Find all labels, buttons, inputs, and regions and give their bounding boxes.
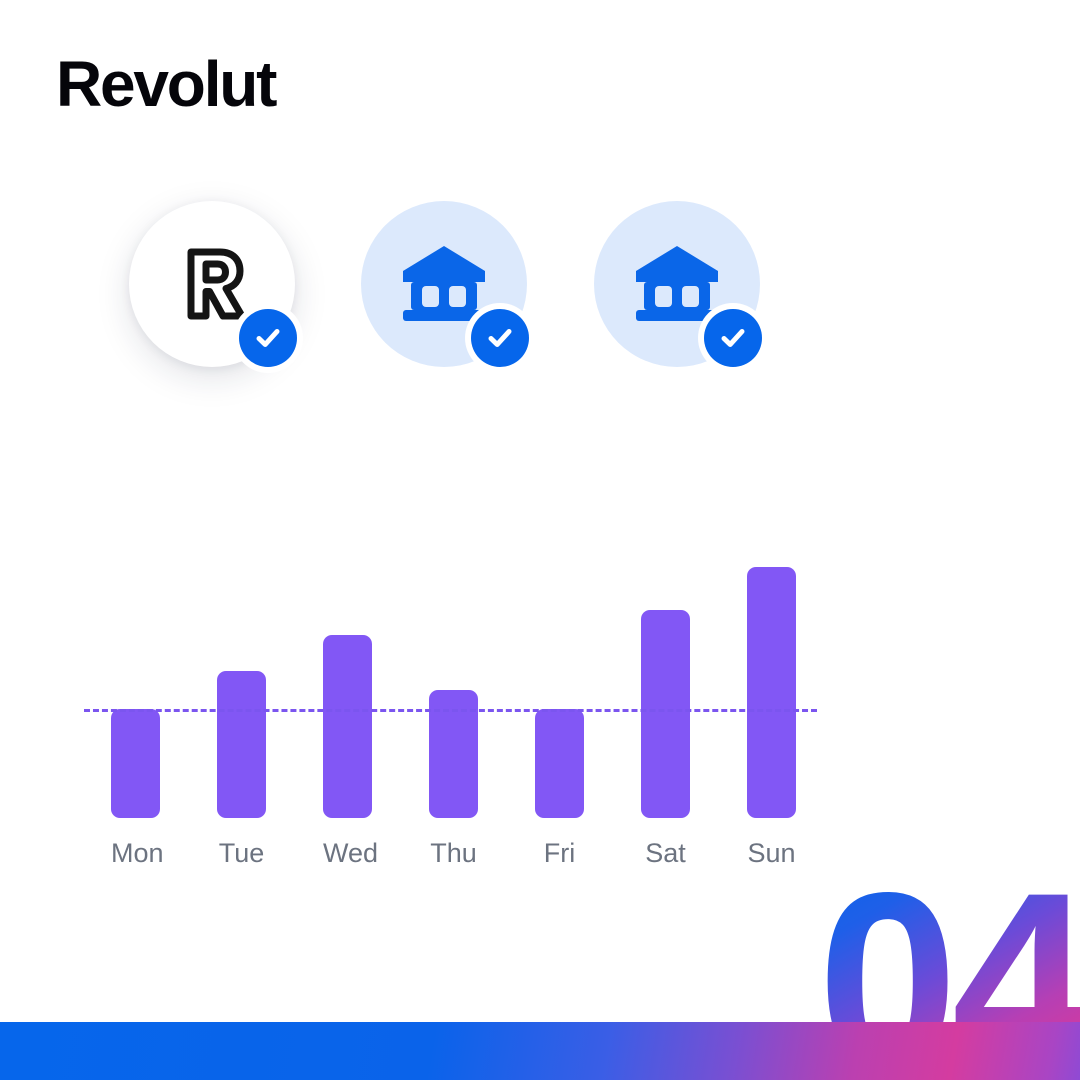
revolut-wordmark: Revolut	[56, 52, 275, 116]
chart-bar[interactable]	[535, 709, 584, 818]
chart-x-axis-labels: MonTueWedThuFriSatSun	[111, 838, 791, 872]
chart-x-label: Wed	[323, 838, 372, 869]
chart-x-label: Sun	[747, 838, 796, 869]
chart-reference-line	[84, 709, 817, 712]
chart-x-label: Fri	[535, 838, 584, 869]
verified-check-badge	[698, 303, 768, 373]
bottom-gradient-bar	[0, 1022, 1080, 1080]
account-badge-bank-2[interactable]	[594, 201, 760, 367]
check-icon	[484, 322, 516, 354]
chart-bar[interactable]	[323, 635, 372, 818]
verified-check-badge	[233, 303, 303, 373]
slide-canvas: Revolut	[0, 0, 1080, 1080]
verified-check-badge	[465, 303, 535, 373]
chart-x-label: Tue	[217, 838, 266, 869]
chart-bar[interactable]	[217, 671, 266, 818]
account-badge-bank-1[interactable]	[361, 201, 527, 367]
chart-x-label: Thu	[429, 838, 478, 869]
weekly-spending-chart: MonTueWedThuFriSatSun	[0, 540, 1080, 890]
chart-x-label: Mon	[111, 838, 160, 869]
check-circle	[471, 309, 529, 367]
chart-bar[interactable]	[747, 567, 796, 818]
chart-x-label: Sat	[641, 838, 690, 869]
check-circle	[704, 309, 762, 367]
verified-accounts-row	[0, 196, 1080, 406]
check-icon	[717, 322, 749, 354]
chart-plot-area	[111, 540, 791, 820]
account-badge-revolut[interactable]	[129, 201, 295, 367]
chart-bar[interactable]	[111, 709, 160, 818]
check-circle	[239, 309, 297, 367]
chart-bar[interactable]	[641, 610, 690, 818]
check-icon	[252, 322, 284, 354]
